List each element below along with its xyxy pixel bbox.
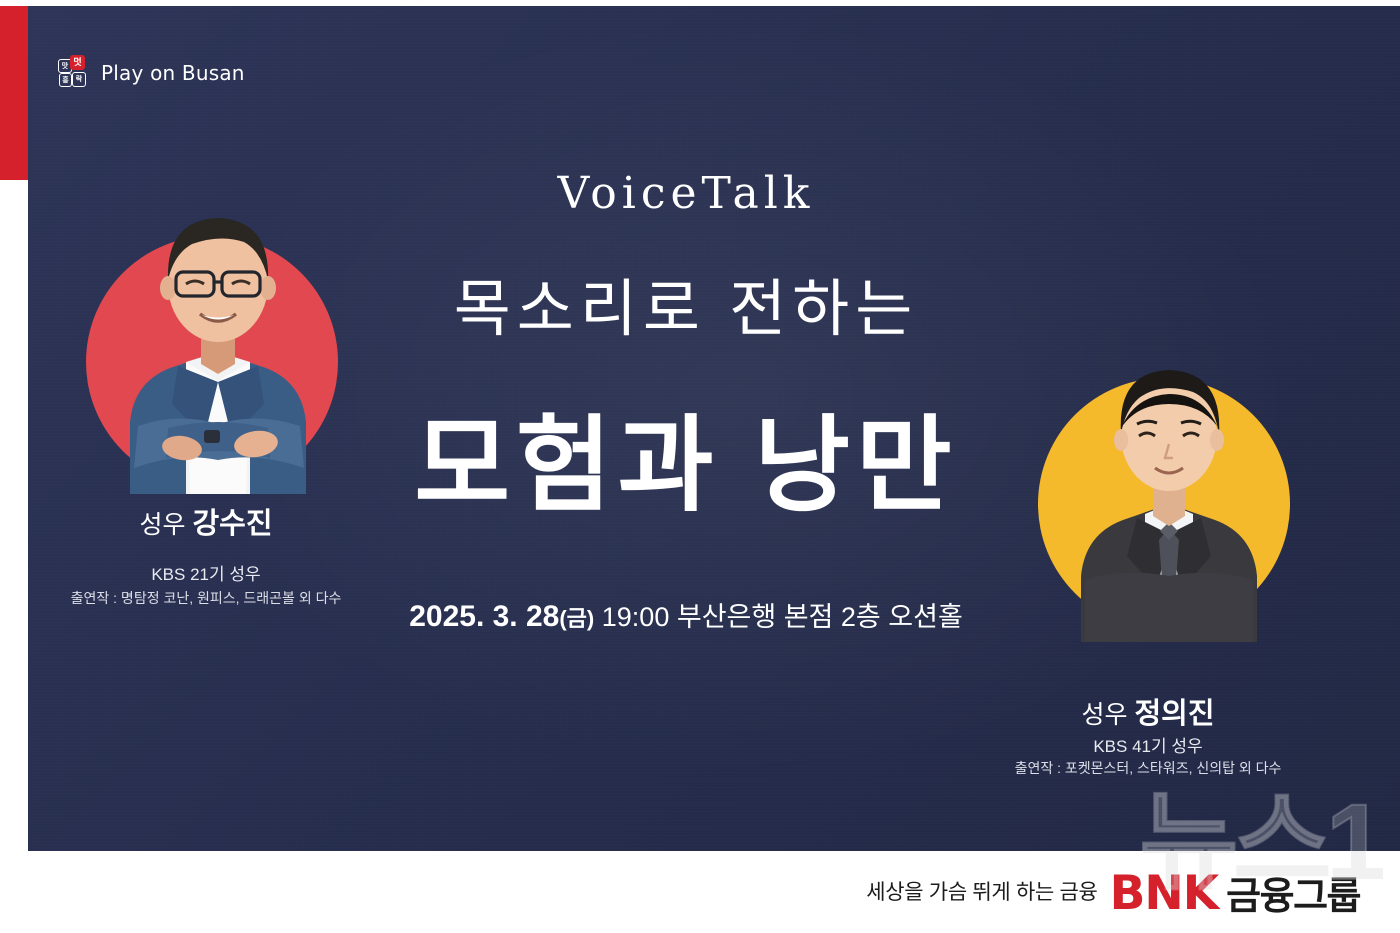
mark-tile-4: 락	[72, 72, 86, 87]
speaker-right-role: 성우	[1081, 701, 1127, 729]
speaker-left-role: 성우	[139, 511, 185, 539]
speaker-right-works: 출연작 : 포켓몬스터, 스타워즈, 신의탑 외 다수	[948, 758, 1348, 778]
bnk-logo: BNK 금융그룹	[1110, 865, 1360, 921]
poster-eyebrow-text: VoiceTalk	[558, 168, 815, 219]
speaker-left-credit: KBS 21기 성우	[0, 560, 412, 585]
schedule-date: 2025. 3. 28	[409, 600, 559, 633]
speaker-right-fullname: 정의진	[1134, 698, 1214, 730]
speaker-left-fullname: 강수진	[192, 508, 272, 540]
play-on-busan-mark-icon: 맛 멋 흥 락	[58, 55, 92, 91]
schedule-day: (금)	[559, 606, 594, 631]
mark-tile-2: 멋	[70, 55, 85, 70]
sponsor-slogan: 세상을 가슴 뛰게 하는 금융	[866, 876, 1097, 910]
speaker-left-works: 출연작 : 명탐정 코난, 원피스, 드래곤볼 외 다수	[0, 588, 412, 608]
speaker-right-credit: KBS 41기 성우	[948, 732, 1348, 757]
poster-eyebrow: VoiceTalk	[0, 168, 1372, 219]
schedule-venue: 부산은행 본점 2층 오션홀	[677, 602, 963, 632]
red-accent-bar	[0, 0, 28, 180]
schedule-time: 19:00	[602, 602, 670, 632]
poster-footer: 세상을 가슴 뛰게 하는 금융 BNK 금융그룹 뉴스1	[0, 851, 1400, 933]
sponsor-block: 세상을 가슴 뛰게 하는 금융 BNK 금융그룹	[866, 865, 1360, 921]
bnk-wordmark: BNK	[1110, 866, 1219, 921]
speaker-right-name: 성우 정의진	[948, 690, 1348, 732]
mark-tile-3: 흥	[59, 73, 72, 87]
speaker-left-name: 성우 강수진	[0, 500, 412, 542]
play-on-busan-wordmark: Play on Busan	[101, 61, 245, 85]
poster-headline-line1: 목소리로 전하는	[0, 258, 1372, 348]
bnk-group-label: 금융그룹	[1226, 865, 1360, 920]
poster-canvas: 맛 멋 흥 락 Play on Busan VoiceTalk 목소리로 전하는…	[0, 0, 1400, 933]
play-on-busan-logo: 맛 멋 흥 락 Play on Busan	[58, 55, 245, 91]
